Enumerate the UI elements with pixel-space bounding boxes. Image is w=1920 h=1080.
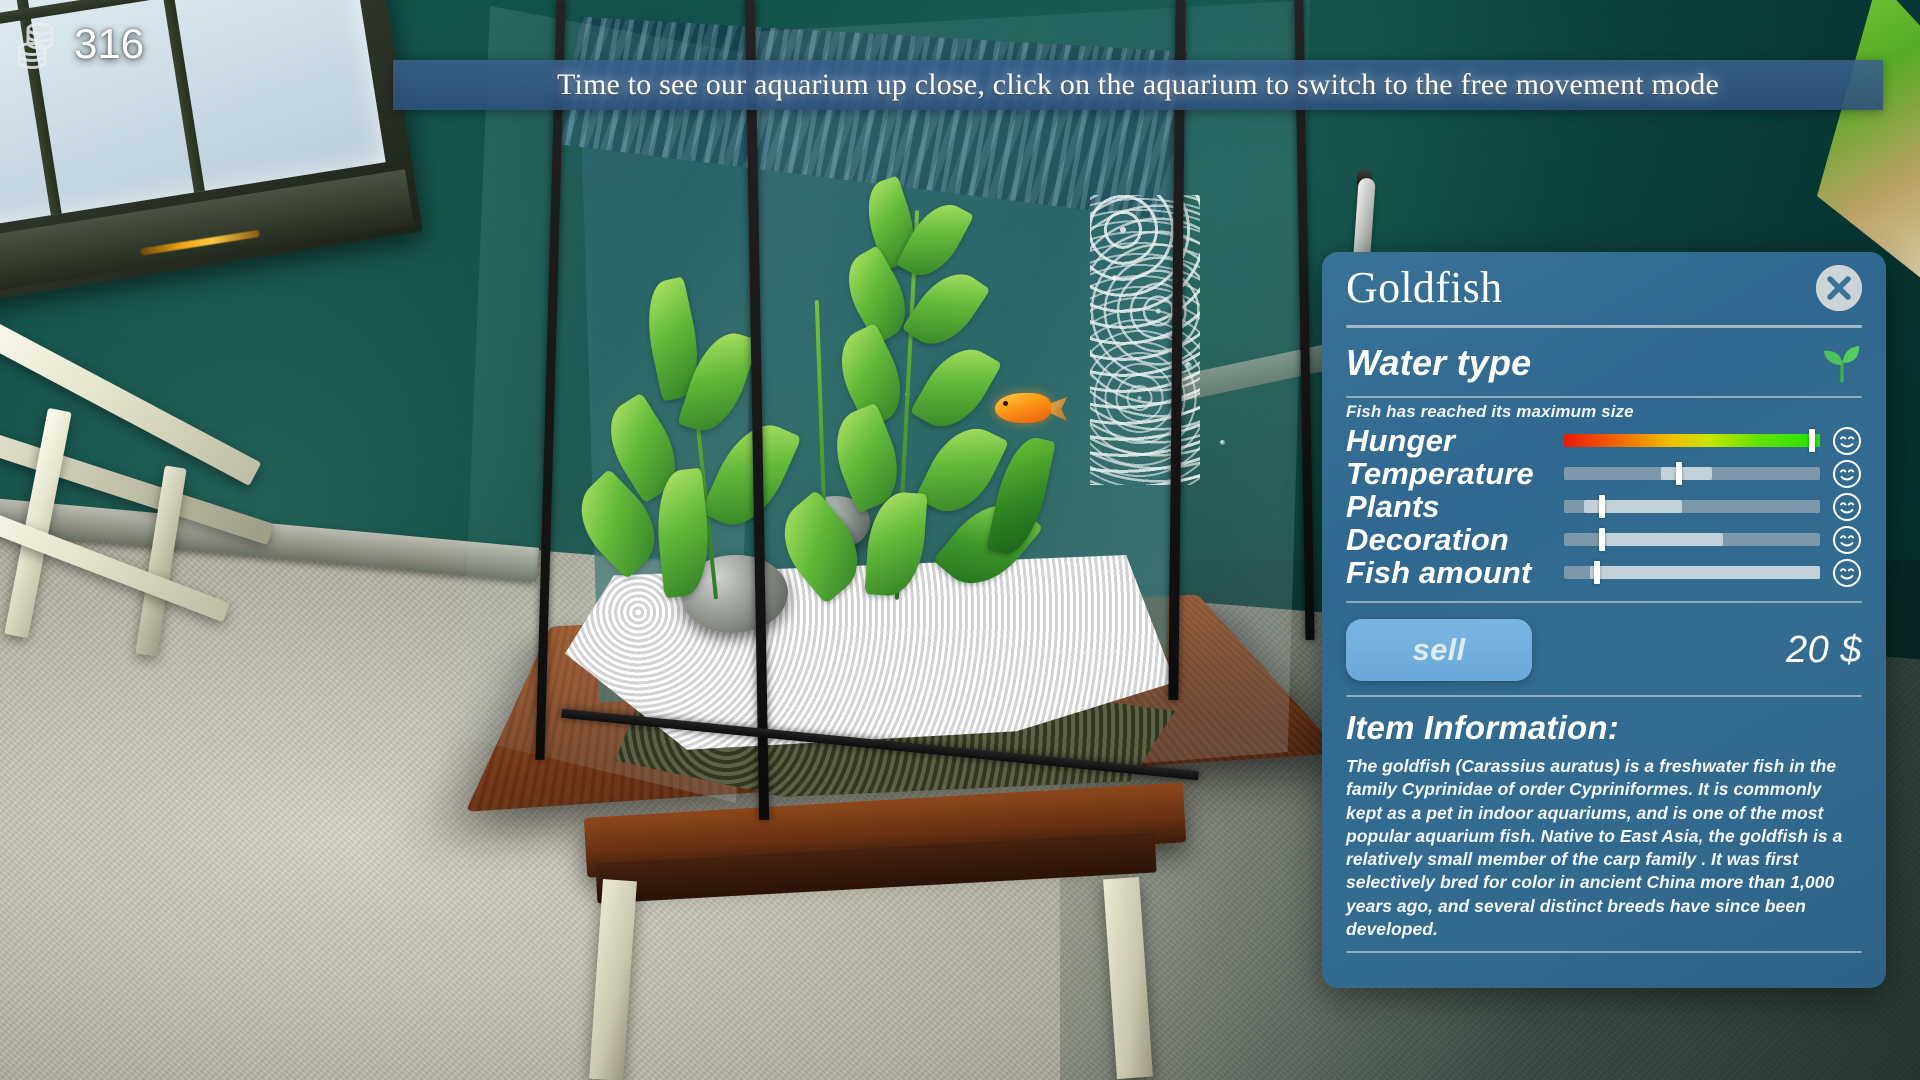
coin-stack-icon bbox=[14, 18, 60, 70]
stat-bar bbox=[1564, 566, 1820, 579]
stat-bar-acceptable-zone bbox=[1605, 533, 1723, 546]
stat-bar bbox=[1564, 434, 1820, 447]
currency-display: 316 bbox=[14, 18, 144, 70]
item-information-title: Item Information: bbox=[1346, 697, 1862, 755]
goldfish-eye bbox=[1003, 401, 1008, 406]
happy-face-icon bbox=[1832, 558, 1862, 588]
stat-label: Temperature bbox=[1346, 456, 1564, 492]
wooden-easel bbox=[0, 300, 330, 720]
goldfish[interactable] bbox=[985, 385, 1069, 435]
stat-label: Plants bbox=[1346, 489, 1564, 525]
stat-row: Temperature bbox=[1346, 457, 1862, 490]
happy-face-icon bbox=[1832, 525, 1862, 555]
stat-row: Decoration bbox=[1346, 523, 1862, 556]
aquarium-bubble bbox=[1220, 440, 1225, 445]
goldfish-body bbox=[995, 393, 1051, 423]
stat-bar-gradient bbox=[1564, 434, 1820, 447]
tutorial-banner: Time to see our aquarium up close, click… bbox=[393, 60, 1883, 110]
fish-info-panel: Goldfish Water type Fish has reached its… bbox=[1322, 252, 1886, 988]
divider bbox=[1346, 325, 1862, 328]
stat-label: Hunger bbox=[1346, 423, 1564, 459]
stat-bar-acceptable-zone bbox=[1590, 566, 1820, 579]
growth-note: Fish has reached its maximum size bbox=[1346, 402, 1862, 422]
aquarium-bubble-stream bbox=[1090, 195, 1200, 485]
stats-list: Hunger Temperature Plants Decoration Fis… bbox=[1346, 424, 1862, 589]
tutorial-text: Time to see our aquarium up close, click… bbox=[557, 68, 1719, 102]
leaf-sprout-icon bbox=[1822, 343, 1862, 383]
stat-bar-marker bbox=[1809, 429, 1815, 452]
divider bbox=[1346, 951, 1862, 953]
panel-header: Goldfish bbox=[1346, 252, 1862, 313]
stat-bar bbox=[1564, 533, 1820, 546]
stat-label: Fish amount bbox=[1346, 555, 1564, 591]
aquarium-bubble bbox=[1185, 362, 1192, 369]
stat-bar-acceptable-zone bbox=[1661, 467, 1712, 480]
stat-bar-marker bbox=[1676, 462, 1682, 485]
water-type-row: Water type bbox=[1346, 328, 1862, 396]
divider bbox=[1346, 601, 1862, 603]
stat-row: Plants bbox=[1346, 490, 1862, 523]
stat-bar-marker bbox=[1599, 528, 1605, 551]
sell-button-label: sell bbox=[1413, 632, 1466, 668]
sell-button[interactable]: sell bbox=[1346, 619, 1532, 681]
game-screen: 316 Time to see our aquarium up close, c… bbox=[0, 0, 1920, 1080]
stat-bar bbox=[1564, 500, 1820, 513]
aquarium-bubble bbox=[1112, 275, 1118, 281]
divider bbox=[1346, 695, 1862, 697]
stat-bar bbox=[1564, 467, 1820, 480]
happy-face-icon bbox=[1832, 459, 1862, 489]
divider bbox=[1346, 396, 1862, 398]
sell-price: 20 $ bbox=[1786, 629, 1862, 672]
stat-bar-marker bbox=[1594, 561, 1600, 584]
page-title: Goldfish bbox=[1346, 262, 1502, 313]
happy-face-icon bbox=[1832, 426, 1862, 456]
aquarium[interactable] bbox=[400, 0, 1340, 900]
happy-face-icon bbox=[1832, 492, 1862, 522]
stat-row: Hunger bbox=[1346, 424, 1862, 457]
water-type-label: Water type bbox=[1346, 342, 1531, 384]
stat-row: Fish amount bbox=[1346, 556, 1862, 589]
stat-bar-marker bbox=[1599, 495, 1605, 518]
currency-value: 316 bbox=[74, 20, 144, 68]
sell-row: sell 20 $ bbox=[1346, 603, 1862, 695]
item-information-body: The goldfish (Carassius auratus) is a fr… bbox=[1346, 755, 1862, 941]
close-icon[interactable] bbox=[1816, 265, 1862, 311]
stat-label: Decoration bbox=[1346, 522, 1564, 558]
